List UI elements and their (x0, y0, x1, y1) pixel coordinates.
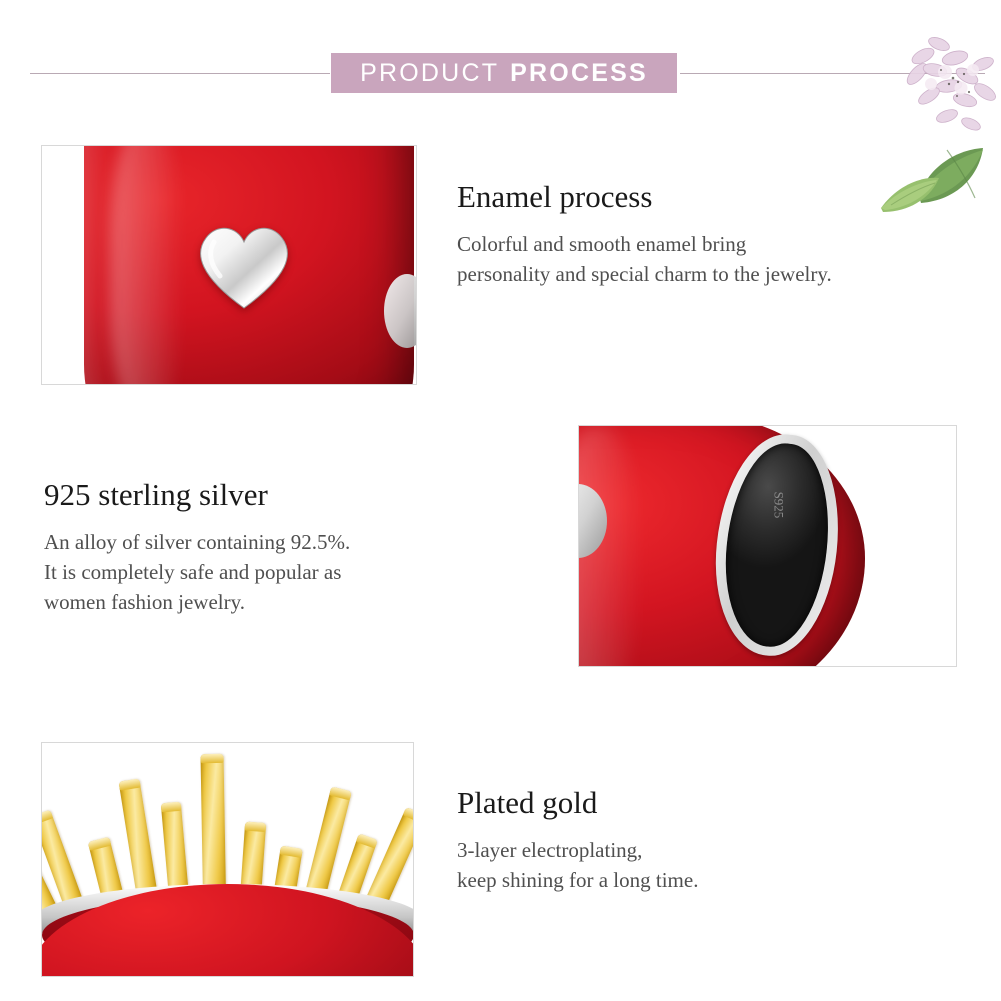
section-title-silver: 925 sterling silver (44, 478, 350, 512)
text-block-gold: Plated gold 3-layer electroplating, keep… (457, 786, 698, 896)
product-photo-gold (41, 742, 414, 977)
section-banner: PRODUCT PROCESS (331, 53, 677, 93)
banner-text-bold: PROCESS (510, 59, 648, 88)
section-body-line: keep shining for a long time. (457, 866, 698, 896)
silver-heart-icon (190, 216, 298, 312)
product-photo-enamel (41, 145, 417, 385)
section-title-enamel: Enamel process (457, 180, 832, 214)
lilac-blossom-decoration (861, 0, 1001, 215)
product-photo-silver: S925 (578, 425, 957, 667)
section-body-line: It is completely safe and popular as (44, 558, 350, 588)
header-rule-right (680, 73, 985, 74)
header-rule-left (30, 73, 330, 74)
banner-text-regular: PRODUCT (360, 59, 499, 88)
section-title-gold: Plated gold (457, 786, 698, 820)
section-body-line: An alloy of silver containing 92.5%. (44, 528, 350, 558)
section-body-line: 3-layer electroplating, (457, 836, 698, 866)
stamp-mark: S925 (771, 492, 787, 519)
silver-photo-canvas: S925 (579, 426, 956, 666)
section-body-line: women fashion jewelry. (44, 588, 350, 618)
gold-photo-canvas (42, 743, 413, 976)
text-block-enamel: Enamel process Colorful and smooth ename… (457, 180, 832, 290)
enamel-photo-canvas (42, 146, 416, 384)
text-block-silver: 925 sterling silver An alloy of silver c… (44, 478, 350, 618)
section-body-line: Colorful and smooth enamel bring (457, 230, 832, 260)
section-body-line: personality and special charm to the jew… (457, 260, 832, 290)
